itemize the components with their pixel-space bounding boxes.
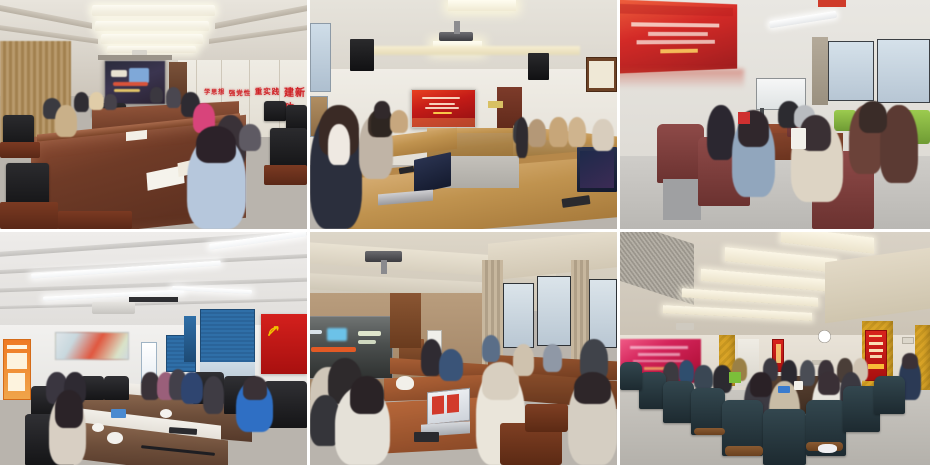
flower-vase xyxy=(396,376,414,390)
projected-slide xyxy=(55,332,129,360)
gold-column-hall-scene xyxy=(620,232,930,465)
person xyxy=(104,94,116,110)
hammer-sickle-emblem xyxy=(267,323,283,348)
wall-slogan-2: 强党性 xyxy=(229,87,252,97)
armchair xyxy=(639,372,667,409)
smartphone xyxy=(414,432,439,441)
person xyxy=(55,105,76,137)
armchair xyxy=(763,409,806,465)
ceiling-light xyxy=(448,0,516,11)
cable-tray xyxy=(129,297,178,302)
boardroom-scene: 学思想 强党性 重实践 建新功 xyxy=(0,0,307,229)
person xyxy=(390,110,408,133)
collage-photo-6 xyxy=(620,232,930,465)
armchair xyxy=(874,376,905,413)
person-hair xyxy=(750,372,772,398)
person xyxy=(516,117,528,158)
party-flag xyxy=(261,314,307,375)
ceiling-light xyxy=(101,34,202,43)
person-hair xyxy=(243,376,268,399)
person xyxy=(568,117,586,147)
person-hair xyxy=(196,126,236,163)
ceiling-light xyxy=(107,46,196,53)
chair xyxy=(525,404,568,432)
wall-display xyxy=(411,89,475,128)
person-hair xyxy=(55,390,83,427)
person xyxy=(513,344,534,377)
cup xyxy=(107,432,122,444)
projector-mount xyxy=(454,21,460,35)
person xyxy=(679,360,695,383)
red-banner xyxy=(865,330,887,381)
person xyxy=(239,124,260,151)
person xyxy=(543,344,561,372)
person xyxy=(166,87,181,108)
laptop-screen xyxy=(738,112,750,123)
ceiling-light xyxy=(95,21,209,31)
person-hair xyxy=(350,376,384,413)
projector-mount xyxy=(381,260,387,274)
chair-armrest xyxy=(725,446,762,455)
projection-spill xyxy=(620,69,744,90)
chair-armrest xyxy=(694,428,725,435)
window xyxy=(589,279,617,349)
person xyxy=(203,376,224,413)
laptop xyxy=(427,388,470,425)
paper xyxy=(126,129,147,140)
shoe xyxy=(818,444,837,453)
pipe xyxy=(818,0,846,7)
office-chair xyxy=(104,376,129,399)
person xyxy=(694,365,713,391)
screen-frame xyxy=(98,55,172,60)
person xyxy=(707,105,735,160)
window xyxy=(877,39,930,103)
person xyxy=(549,117,567,147)
window xyxy=(828,41,875,101)
speaker xyxy=(350,39,375,71)
projector xyxy=(92,302,135,314)
window xyxy=(503,283,534,348)
chair xyxy=(657,124,704,184)
collage-photo-2 xyxy=(310,0,620,232)
orange-banner xyxy=(3,339,31,400)
cup xyxy=(794,381,803,390)
person xyxy=(528,119,546,146)
paper-cup xyxy=(791,128,807,149)
tissue-box xyxy=(111,409,126,418)
person-hair xyxy=(902,353,918,369)
person xyxy=(89,92,104,110)
collage-photo-3 xyxy=(620,0,930,232)
person xyxy=(439,349,464,382)
modern-conference-scene xyxy=(0,232,307,465)
roll-up-banner xyxy=(184,316,196,363)
small-meeting-scene xyxy=(620,0,930,229)
collage-photo-1: 学思想 强党性 重实践 建新功 xyxy=(0,0,310,232)
person xyxy=(592,119,613,151)
laptop xyxy=(778,386,790,393)
photo-collage: 学思想 强党性 重实践 建新功 xyxy=(0,0,930,465)
wall-slogan-1: 学思想 xyxy=(204,87,225,96)
curtain xyxy=(812,37,828,106)
window xyxy=(537,276,571,346)
door xyxy=(390,293,421,349)
seminar-room-scene xyxy=(310,0,617,229)
window xyxy=(310,23,331,92)
person xyxy=(374,101,389,119)
blue-blind xyxy=(200,309,255,365)
wall-clock xyxy=(818,330,830,343)
person-hair xyxy=(818,372,840,395)
plant xyxy=(729,372,741,384)
person xyxy=(482,335,500,363)
person xyxy=(150,87,162,103)
collage-photo-5 xyxy=(310,232,620,465)
wall-slogan-3: 重实践 xyxy=(255,86,281,97)
framed-artwork xyxy=(586,57,617,91)
large-hall-scene xyxy=(310,232,617,465)
sign xyxy=(488,101,503,108)
armchair xyxy=(620,362,642,390)
collage-photo-4 xyxy=(0,232,310,465)
projected-slide xyxy=(620,0,737,74)
person-hair xyxy=(574,372,611,405)
person-hair xyxy=(859,101,887,133)
wall-panel xyxy=(902,337,914,344)
chair-base xyxy=(663,179,700,220)
speaker xyxy=(528,53,549,80)
laptop xyxy=(577,147,617,193)
person-scarf xyxy=(328,124,349,165)
person xyxy=(181,372,202,405)
ceiling-light xyxy=(92,5,215,16)
armchair xyxy=(663,381,694,423)
projector xyxy=(676,323,695,330)
person xyxy=(74,92,89,113)
